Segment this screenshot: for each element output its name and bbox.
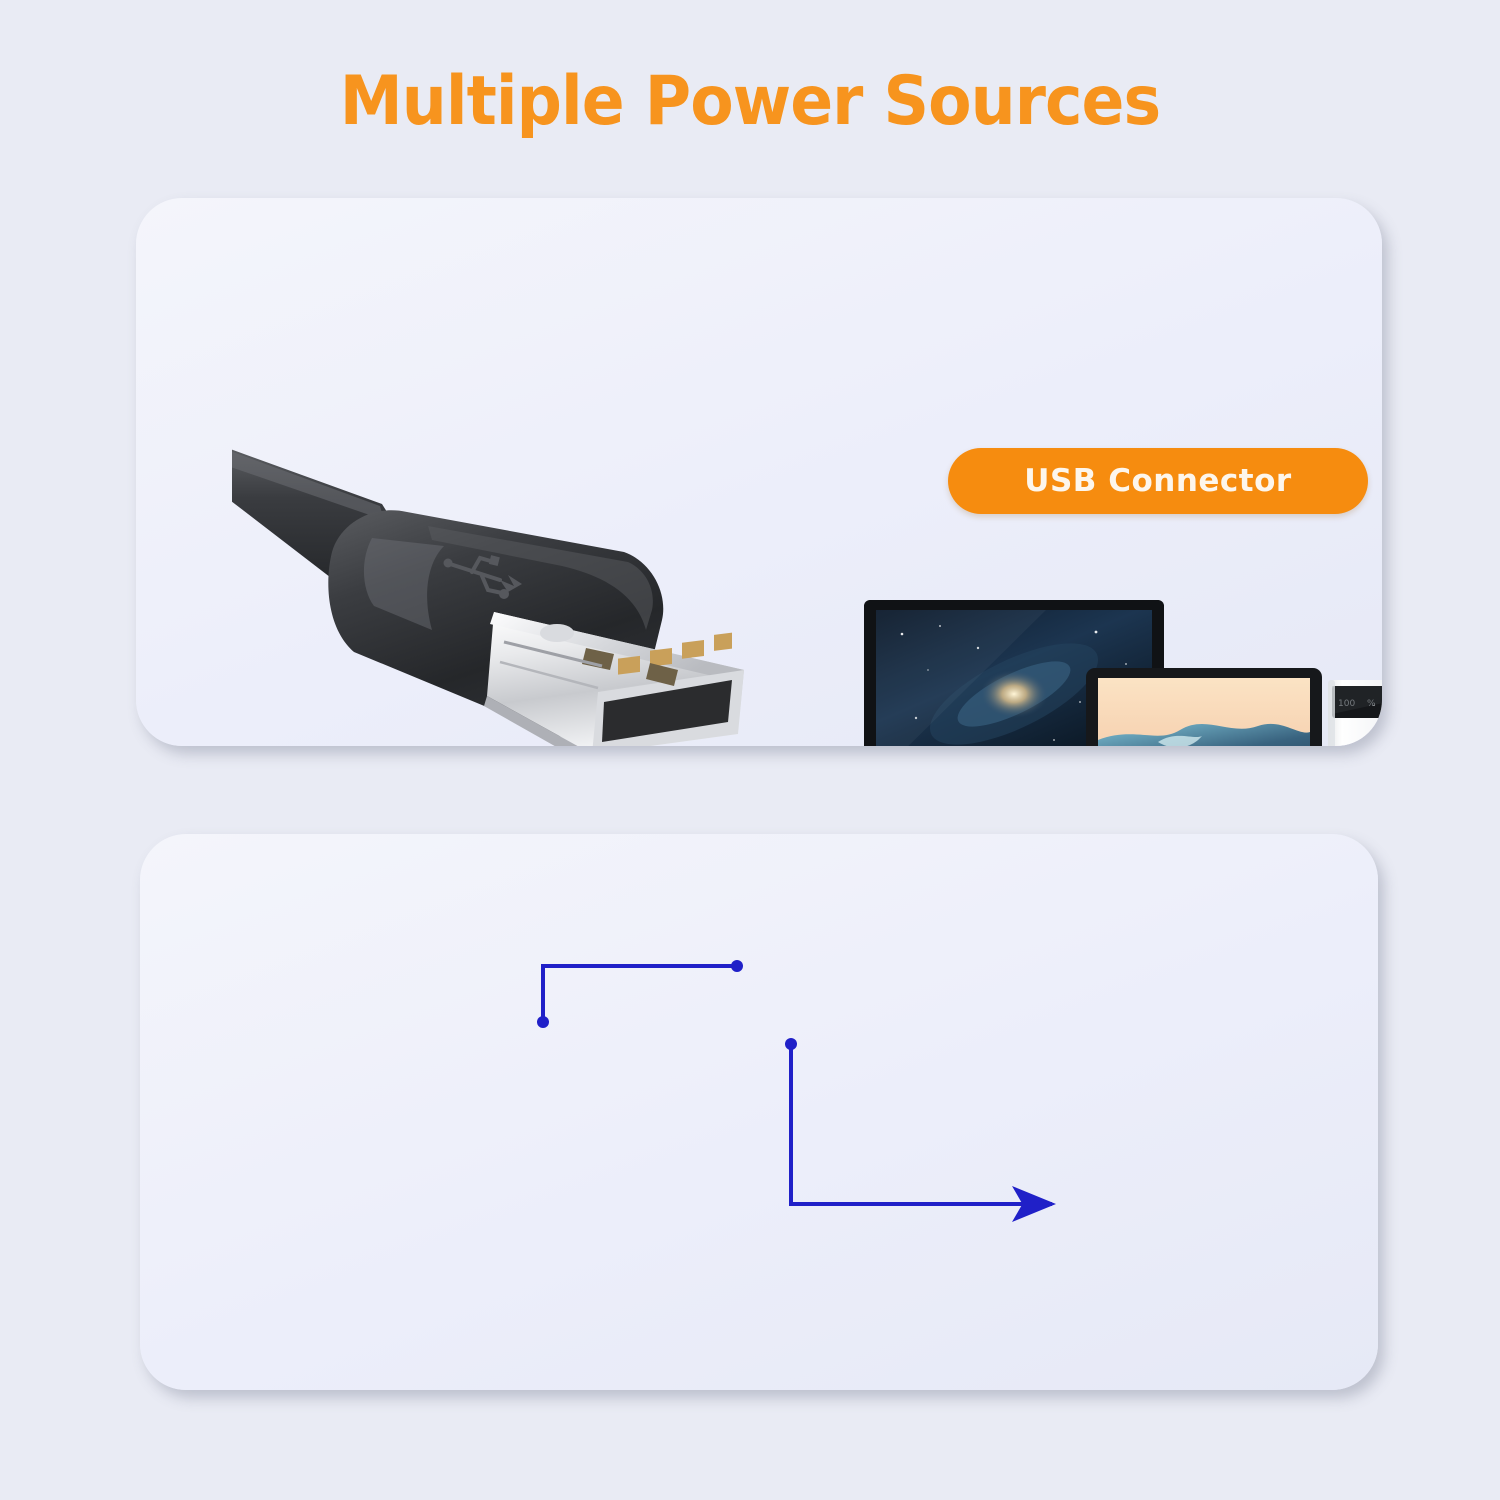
type-c-interface-card: Type-C Interface Plug in The Infrared Re… <box>140 834 1378 1390</box>
page-title: Multiple Power Sources <box>53 62 1448 141</box>
compatible-devices-illustration: 100 % <box>858 590 1382 746</box>
usb-connector-badge: USB Connector <box>948 448 1368 514</box>
usb-connector-badge-label: USB Connector <box>1024 463 1291 499</box>
usb-a-plug-icon <box>232 434 792 746</box>
usb-connector-card: 100 % USB Connector PC, Laptop USB, USB … <box>136 198 1382 746</box>
